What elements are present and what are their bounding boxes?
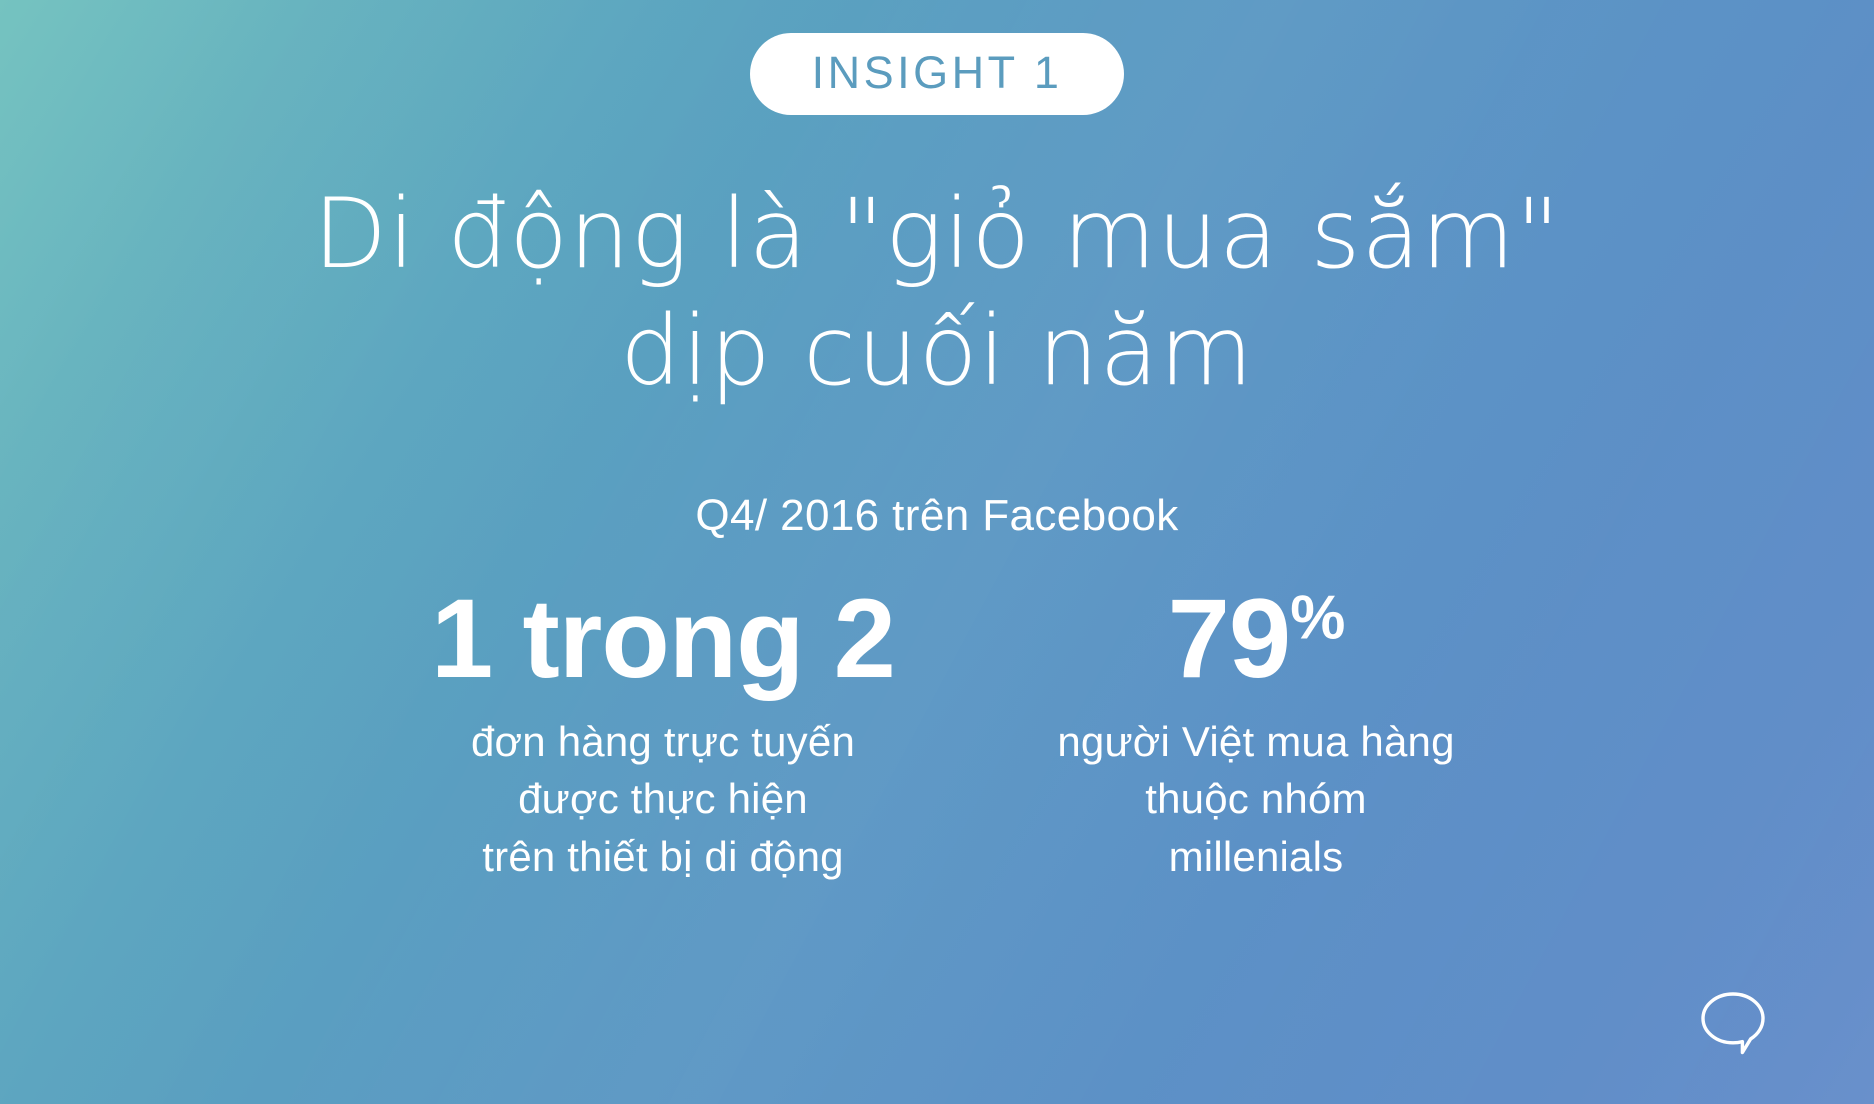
infographic-slide: INSIGHT 1 Di động là "giỏ mua sắm" dịp c… xyxy=(0,0,1874,1104)
stat-caption-orders-line-2: được thực hiện xyxy=(471,770,855,828)
stat-caption-orders-line-3: trên thiết bị di động xyxy=(471,828,855,886)
stat-caption-millenials: người Việt mua hàng thuộc nhóm millenial… xyxy=(1057,713,1454,886)
stat-value-millenials: 79% xyxy=(1168,580,1345,699)
stats-row: 1 trong 2 đơn hàng trực tuyến được thực … xyxy=(0,580,1874,885)
insight-badge: INSIGHT 1 xyxy=(750,33,1125,115)
stat-caption-orders-line-1: đơn hàng trực tuyến xyxy=(471,713,855,771)
badge-row: INSIGHT 1 xyxy=(0,33,1874,115)
stat-block-millenials: 79% người Việt mua hàng thuộc nhóm mille… xyxy=(1021,580,1491,885)
headline: Di động là "giỏ mua sắm" dịp cuối năm xyxy=(0,176,1874,410)
stat-block-orders: 1 trong 2 đơn hàng trực tuyến được thực … xyxy=(383,580,943,885)
headline-line-2: dịp cuối năm xyxy=(0,293,1874,410)
stat-caption-millenials-line-3: millenials xyxy=(1057,828,1454,886)
stat-value-millenials-number: 79 xyxy=(1168,576,1291,701)
stat-value-orders: 1 trong 2 xyxy=(431,580,895,699)
stat-caption-millenials-line-1: người Việt mua hàng xyxy=(1057,713,1454,771)
stat-value-millenials-percent-sign: % xyxy=(1290,584,1344,653)
insight-badge-label: INSIGHT 1 xyxy=(812,50,1063,95)
subtitle: Q4/ 2016 trên Facebook xyxy=(0,492,1874,540)
headline-line-1: Di động là "giỏ mua sắm" xyxy=(0,176,1874,293)
speech-bubble-icon xyxy=(1696,986,1770,1060)
stat-caption-orders: đơn hàng trực tuyến được thực hiện trên … xyxy=(471,713,855,886)
stat-caption-millenials-line-2: thuộc nhóm xyxy=(1057,770,1454,828)
